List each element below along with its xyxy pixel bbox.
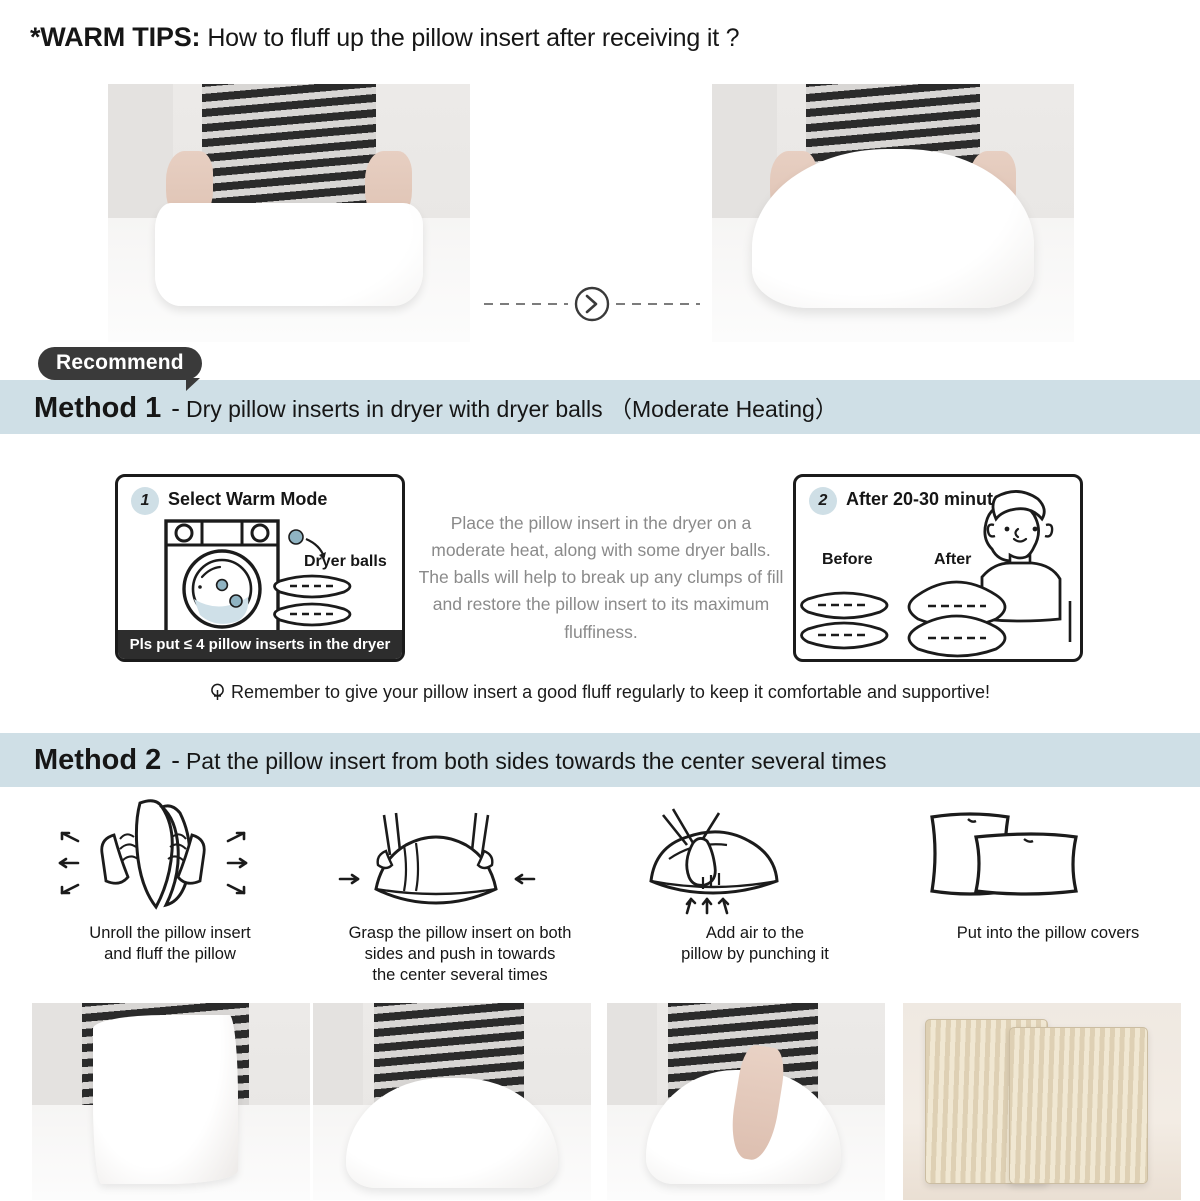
method2-banner: Method 2 - Pat the pillow insert from bo…	[0, 733, 1200, 787]
photo-scene	[712, 84, 1074, 342]
hands-pushing-pillow-inward-icon	[312, 793, 608, 918]
method1-banner: Method 1 - Dry pillow inserts in dryer w…	[0, 380, 1200, 434]
photo-wall	[32, 1003, 82, 1113]
method1-description: Dry pillow inserts in dryer with dryer b…	[186, 390, 838, 424]
step-art	[607, 793, 903, 918]
striped-shirt	[202, 84, 376, 208]
method2-step-row: Unroll the pillow insert and fluff the p…	[0, 793, 1200, 991]
photo-before-fluff	[108, 84, 470, 342]
photo-after-fluff	[712, 84, 1074, 342]
step-caption: Grasp the pillow insert on both sides an…	[320, 923, 600, 986]
hands-punching-pillow-upward-arrows-icon	[607, 793, 903, 918]
page-title-rest: How to fluff up the pillow insert after …	[207, 24, 739, 52]
photo-grasp-pillow	[313, 1003, 591, 1200]
recommend-badge-label: Recommend	[56, 351, 184, 374]
dryer-step-card: 1 Select Warm Mode	[115, 474, 405, 662]
method2-step: Unroll the pillow insert and fluff the p…	[22, 793, 318, 991]
reminder-line: Remember to give your pillow insert a go…	[0, 682, 1200, 703]
photo-scene	[607, 1003, 885, 1200]
method2-dash: -	[161, 745, 186, 776]
method1-number: Method 1	[34, 392, 161, 425]
step-art	[900, 793, 1196, 918]
recommend-badge: Recommend	[38, 347, 202, 380]
method1-dash: -	[161, 393, 186, 424]
pillow-cover-right	[1009, 1027, 1148, 1185]
after-label: After	[934, 551, 971, 569]
dryer-capacity-note: Pls put ≤ 4 pillow inserts in the dryer	[118, 630, 402, 659]
step-art	[312, 793, 608, 918]
photo-scene	[108, 84, 470, 342]
photo-unroll-pillow	[32, 1003, 310, 1200]
method2-step: Grasp the pillow insert on both sides an…	[312, 793, 608, 991]
two-pillow-covers-icon	[900, 793, 1196, 918]
photo-scene	[313, 1003, 591, 1200]
step-art	[22, 793, 318, 918]
method2-number: Method 2	[34, 744, 161, 777]
before-after-card: 2 After 20-30 minutes Befo	[793, 474, 1083, 662]
hands-holding-pillow-with-outward-arrows-icon	[22, 793, 318, 918]
pillow-insert-upright	[93, 1015, 238, 1184]
photo-scene	[32, 1003, 310, 1200]
method1-paragraph: Place the pillow insert in the dryer on …	[418, 510, 784, 646]
step-caption: Unroll the pillow insert and fluff the p…	[30, 923, 310, 965]
dryer-balls-label: Dryer balls	[304, 553, 387, 571]
step-caption: Add air to the pillow by punching it	[615, 923, 895, 965]
photo-punch-pillow	[607, 1003, 885, 1200]
chevron-right-circle-icon	[484, 284, 700, 324]
before-after-illustration	[796, 477, 1083, 662]
sofa-scene	[903, 1003, 1181, 1200]
step-caption: Put into the pillow covers	[908, 923, 1188, 944]
method2-step: Add air to the pillow by punching it	[607, 793, 903, 991]
page-title: *WARM TIPS: How to fluff up the pillow i…	[30, 22, 739, 53]
lightbulb-icon	[210, 683, 225, 702]
photo-wall	[313, 1003, 363, 1113]
reminder-text: Remember to give your pillow insert a go…	[231, 682, 990, 703]
method2-step: Put into the pillow covers	[900, 793, 1196, 991]
page-title-strong: *WARM TIPS:	[30, 22, 200, 52]
method2-description: Pat the pillow insert from both sides to…	[186, 748, 887, 775]
photo-pillow-covers	[903, 1003, 1181, 1200]
before-label: Before	[822, 551, 873, 569]
bottom-photo-row	[0, 1003, 1200, 1201]
photo-wall	[607, 1003, 657, 1113]
flat-pillow-insert	[155, 203, 423, 306]
badge-tail	[186, 378, 200, 391]
progress-connector	[484, 284, 700, 324]
top-photo-row	[0, 84, 1200, 344]
